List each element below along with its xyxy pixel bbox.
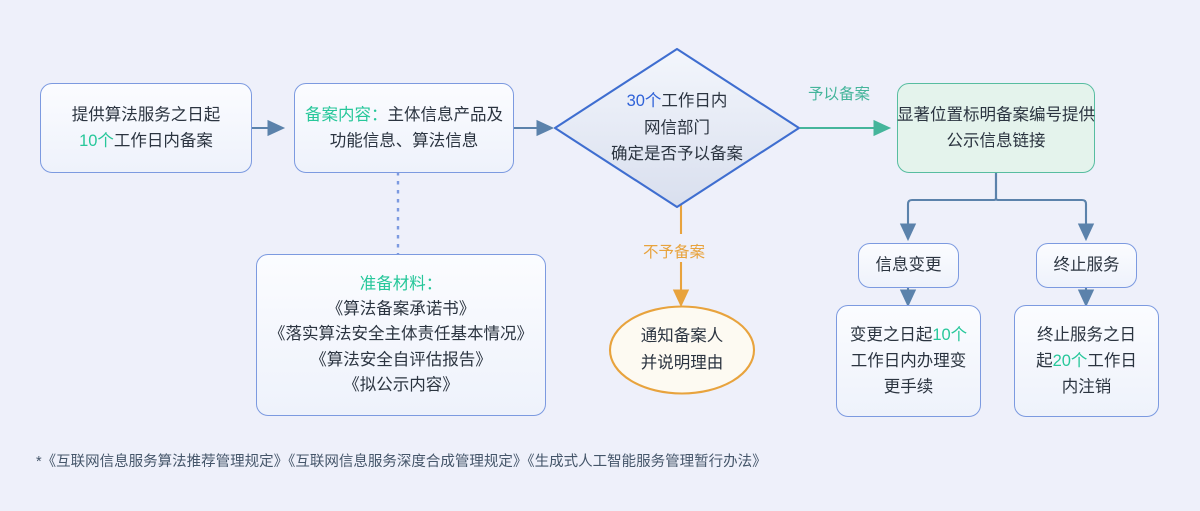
node-rejected-text: 通知备案人 并说明理由 (608, 305, 756, 395)
node-info-change-label: 信息变更 (876, 252, 942, 278)
node-decision-line-1: 30个工作日内 (627, 88, 728, 115)
node-change-procedure-pre: 变更之日起 (850, 326, 933, 344)
node-start-line-2-post: 工作日内备案 (114, 132, 213, 150)
footnote: *《互联网信息服务算法推荐管理规定》《互联网信息服务深度合成管理规定》《生成式人… (36, 450, 767, 471)
node-decision-highlight: 30个 (627, 92, 662, 110)
node-change-procedure[interactable]: 变更之日起10个 工作日内办理变 更手续 (836, 305, 981, 417)
node-materials-title: 准备材料： (360, 272, 443, 297)
node-start-highlight: 10个 (79, 132, 114, 150)
node-filing-line-1: 备案内容：主体信息产品及 (305, 102, 503, 128)
node-decision-text: 30个工作日内 网信部门 确定是否予以备案 (552, 46, 802, 210)
node-decision-line-3: 确定是否予以备案 (611, 141, 743, 168)
node-start[interactable]: 提供算法服务之日起 10个工作日内备案 (40, 83, 252, 173)
node-cancel-procedure-line-1: 终止服务之日 (1037, 322, 1136, 348)
node-terminate-service[interactable]: 终止服务 (1036, 243, 1137, 288)
node-cancel-procedure[interactable]: 终止服务之日 起20个工作日 内注销 (1014, 305, 1159, 417)
node-cancel-procedure-highlight: 20个 (1053, 352, 1088, 370)
node-cancel-procedure-pre: 起 (1036, 352, 1053, 370)
flowchart-canvas: 提供算法服务之日起 10个工作日内备案 备案内容：主体信息产品及 功能信息、算法… (0, 0, 1200, 511)
node-cancel-procedure-post: 工作日 (1087, 352, 1137, 370)
node-materials-item-2: 《落实算法安全主体责任基本情况》 (269, 322, 533, 347)
node-change-procedure-line-1: 变更之日起10个 (850, 322, 967, 348)
node-filing-content[interactable]: 备案内容：主体信息产品及 功能信息、算法信息 (294, 83, 514, 173)
node-terminate-service-label: 终止服务 (1054, 252, 1120, 278)
edge-approved-branch (908, 172, 1086, 239)
node-rejected[interactable]: 通知备案人 并说明理由 (608, 305, 756, 395)
node-decision-line-1-post: 工作日内 (661, 92, 727, 110)
node-decision[interactable]: 30个工作日内 网信部门 确定是否予以备案 (552, 46, 802, 210)
node-approved-line-1: 显著位置标明备案编号提供 (897, 102, 1095, 128)
edge-label-rejected: 不予备案 (643, 240, 705, 262)
node-change-procedure-line-3: 更手续 (884, 374, 934, 400)
node-decision-line-2: 网信部门 (644, 115, 710, 142)
node-cancel-procedure-line-2: 起20个工作日 (1036, 348, 1137, 374)
node-change-procedure-highlight: 10个 (932, 326, 967, 344)
node-filing-line-2: 功能信息、算法信息 (330, 128, 479, 154)
node-materials-item-1: 《算法备案承诺书》 (327, 297, 476, 322)
node-approved[interactable]: 显著位置标明备案编号提供 公示信息链接 (897, 83, 1095, 173)
node-approved-line-2: 公示信息链接 (947, 128, 1046, 154)
node-rejected-line-2: 并说明理由 (641, 350, 724, 377)
node-change-procedure-line-2: 工作日内办理变 (851, 348, 967, 374)
node-info-change[interactable]: 信息变更 (858, 243, 959, 288)
node-materials-item-4: 《拟公示内容》 (343, 373, 459, 398)
node-materials-item-3: 《算法安全自评估报告》 (310, 348, 492, 373)
edge-label-approved: 予以备案 (808, 82, 870, 104)
node-filing-line-1-post: 主体信息产品及 (388, 106, 504, 124)
node-cancel-procedure-line-3: 内注销 (1062, 374, 1112, 400)
node-rejected-line-1: 通知备案人 (641, 323, 724, 350)
node-start-line-1: 提供算法服务之日起 (72, 102, 221, 128)
node-materials[interactable]: 准备材料： 《算法备案承诺书》 《落实算法安全主体责任基本情况》 《算法安全自评… (256, 254, 546, 416)
node-filing-highlight: 备案内容： (305, 106, 388, 124)
node-start-line-2: 10个工作日内备案 (79, 128, 213, 154)
